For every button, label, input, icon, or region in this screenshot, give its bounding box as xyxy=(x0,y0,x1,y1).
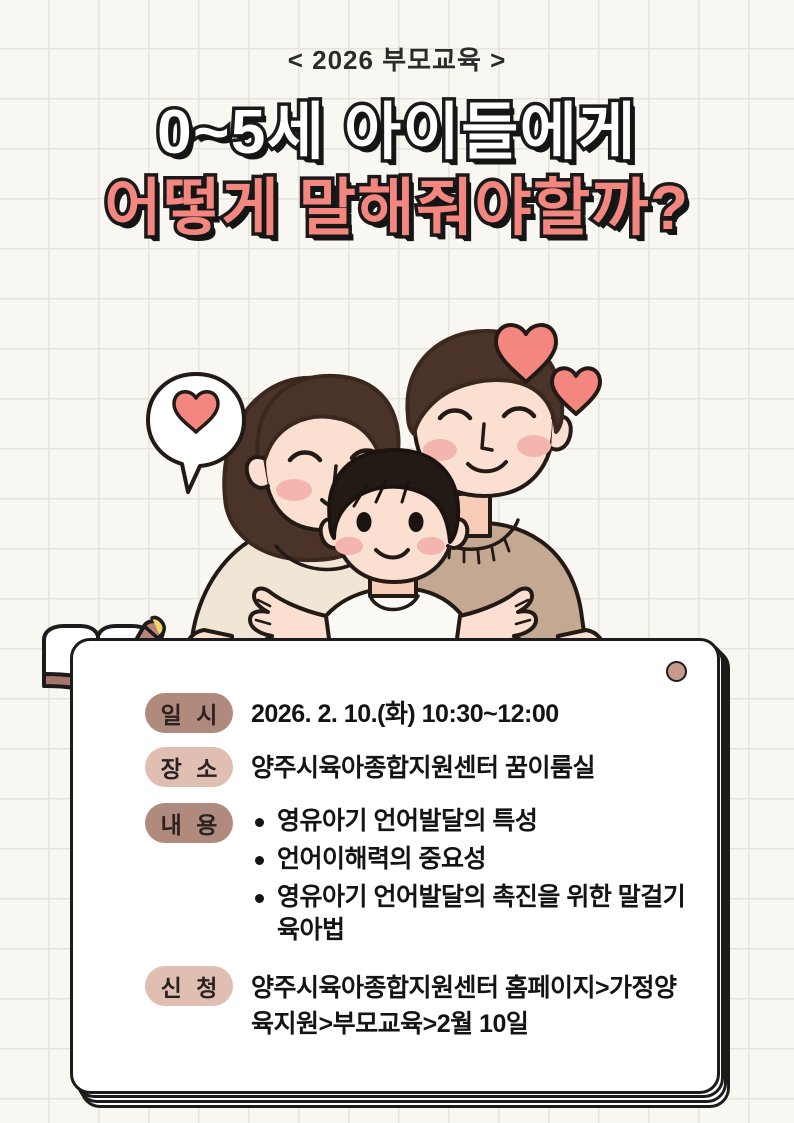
info-row-content: 내 용 영유아기 언어발달의 특성 언어이해력의 중요성 영유아기 언어발달의 … xyxy=(145,801,693,952)
info-rows: 일 시 2026. 2. 10.(화) 10:30~12:00 장 소 양주시육… xyxy=(145,693,693,1043)
content-bullet-item: 언어이해력의 중요성 xyxy=(251,843,693,877)
punch-hole-icon xyxy=(666,661,687,682)
title-line-1: 0~5세 아이들에게 xyxy=(0,95,794,171)
content-bullet-item: 영유아기 언어발달의 특성 xyxy=(251,805,693,839)
row-value-content: 영유아기 언어발달의 특성 언어이해력의 중요성 영유아기 언어발달의 촉진을 … xyxy=(251,801,693,952)
row-value-location: 양주시육아종합지원센터 꿈이룸실 xyxy=(251,747,693,787)
info-row-location: 장 소 양주시육아종합지원센터 꿈이룸실 xyxy=(145,747,693,787)
row-label-content: 내 용 xyxy=(145,803,233,843)
info-row-datetime: 일 시 2026. 2. 10.(화) 10:30~12:00 xyxy=(145,693,693,733)
row-label-apply: 신 청 xyxy=(145,966,233,1006)
info-card: 일 시 2026. 2. 10.(화) 10:30~12:00 장 소 양주시육… xyxy=(70,638,720,1094)
poster-root: < 2026 부모교육 > 0~5세 아이들에게 어떻게 말해줘야할까? xyxy=(0,0,794,1123)
row-label-datetime: 일 시 xyxy=(145,693,233,733)
family-hug-illustration xyxy=(130,300,650,680)
row-value-apply: 양주시육아종합지원센터 홈페이지>가정양육지원>부모교육>2월 10일 xyxy=(251,966,693,1043)
poster-title: 0~5세 아이들에게 어떻게 말해줘야할까? xyxy=(0,95,794,246)
content-bullet-list: 영유아기 언어발달의 특성 언어이해력의 중요성 영유아기 언어발달의 촉진을 … xyxy=(251,805,693,948)
info-row-apply: 신 청 양주시육아종합지원센터 홈페이지>가정양육지원>부모교육>2월 10일 xyxy=(145,966,693,1043)
row-label-location: 장 소 xyxy=(145,747,233,787)
content-bullet-item: 영유아기 언어발달의 촉진을 위한 말걸기육아법 xyxy=(251,881,693,949)
title-line-2: 어떻게 말해줘야할까? xyxy=(0,171,794,247)
row-value-datetime: 2026. 2. 10.(화) 10:30~12:00 xyxy=(251,693,693,733)
poster-eyebrow: < 2026 부모교육 > xyxy=(0,40,794,77)
